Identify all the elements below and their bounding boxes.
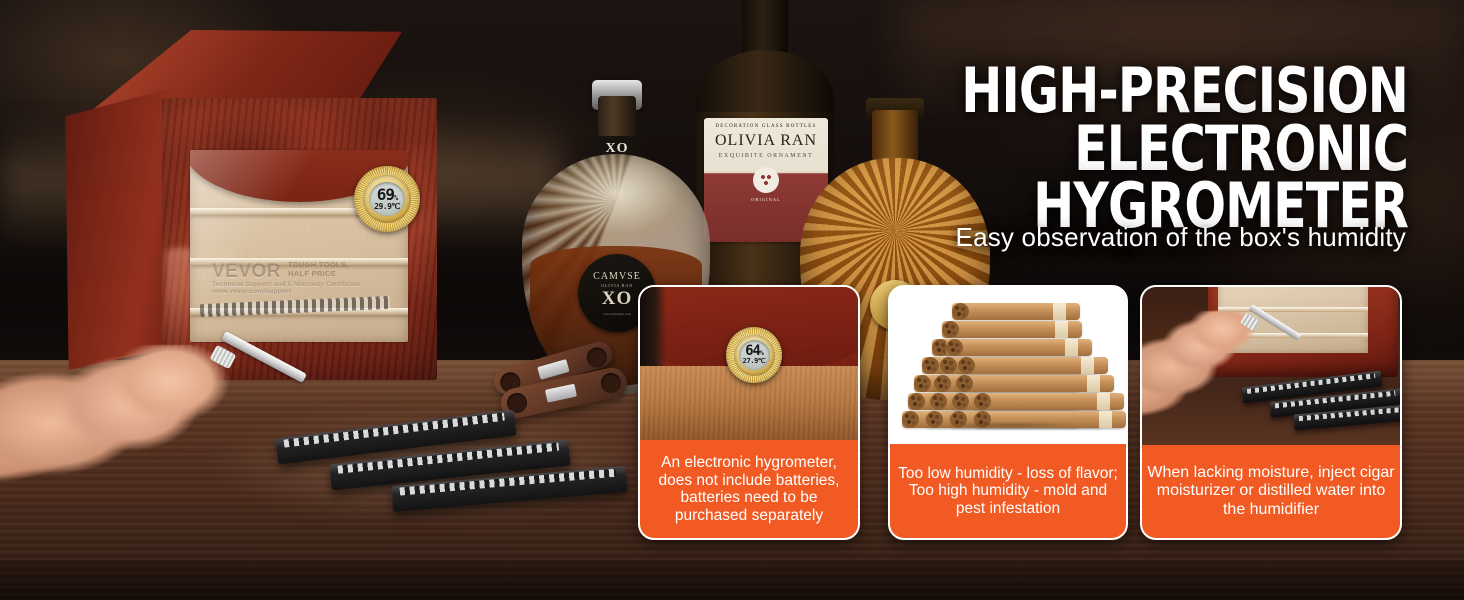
cutter-finger-hole [584,345,609,370]
cognac-brand: CAMVSE [593,271,641,282]
hygrometer-temperature-unit: ℃ [391,202,399,211]
card-hygrometer-device: 64% 27.9℃ [726,327,782,383]
hygrometer-lcd-display: 69% 29.9℃ [369,182,405,216]
hand-holding-dropper [1142,311,1256,437]
card-caption-cigars: Too low humidity - loss of flavor; Too h… [890,444,1126,538]
hand-holding-dropper [0,345,240,495]
cognac-fineprint: www.oliviaran.com [603,312,631,316]
humidor-box: VEVOR Technical Support and E-Warranty C… [62,30,437,375]
cigar-stack-shadow [916,420,1104,430]
hygrometer-temperature-value: 29.9 [374,202,391,211]
hygrometer-humidity-value: 69 [377,185,394,204]
card-hygrometer-lcd: 64% 27.9℃ [739,340,770,370]
vevor-watermark-small: VEVOR [1238,287,1279,289]
cognac-subbrand: OLIVIA RAN [601,283,633,288]
cigar-item [942,321,1082,338]
cigar-pyramid [890,287,1126,444]
banner-headline: HIGH-PRECISION ELECTRONIC HYGROMETER [678,62,1408,235]
cigar-item [958,357,1108,374]
card-hygrometer-temperature-row: 27.9℃ [743,358,766,365]
headline-line-1: HIGH-PRECISION ELECTRONIC [961,54,1408,185]
feature-cards-row: 64% 27.9℃ An electronic hygrometer, does… [638,285,1404,543]
feature-card-hygrometer[interactable]: 64% 27.9℃ An electronic hygrometer, does… [638,285,860,540]
card-hygrometer-humidity-unit: % [760,349,763,357]
feature-card-cigars[interactable]: Too low humidity - loss of flavor; Too h… [888,285,1128,540]
cigar-item [952,303,1080,320]
cutter-blade [545,384,577,403]
cognac-grade-mark: XO [602,289,633,308]
feature-card-humidifier[interactable]: VEVOR When lacking moisture, inject ciga… [1140,285,1402,540]
humidifier-scene: VEVOR [1142,287,1400,445]
humidor-left-side [62,88,172,370]
humidor-hygrometer: 69% 29.9℃ [354,166,420,232]
banner-subheadline: Easy observation of the box's humidity [786,222,1406,253]
table-front-edge [0,560,1464,600]
cigar-item [974,393,1124,410]
hygrometer-gold-bezel: 69% 29.9℃ [363,175,411,223]
card-photo-hygrometer: 64% 27.9℃ [640,287,858,440]
card-hygrometer-humidity-row: 64% [745,345,763,358]
cigar-item [946,339,1092,356]
card-photo-cigars [890,287,1126,444]
product-banner: DECORATION GLASS BOTTLES OLIVIA RAN EXQU… [0,0,1464,600]
card-hygrometer-temperature-value: 27.9 [743,357,758,365]
card-hygrometer-temperature-unit: ℃ [758,357,765,365]
cutter-finger-hole [599,371,623,395]
card-hygrometer-bezel: 64% 27.9℃ [734,335,775,376]
hygrometer-humidity-row: 69% [377,187,397,202]
card-caption-humidifier: When lacking moisture, inject cigar mois… [1142,445,1400,538]
hygrometer-humidity-unit: % [394,194,397,202]
card-caption-hygrometer: An electronic hygrometer, does not inclu… [640,440,858,538]
card-photo-humidifier: VEVOR [1142,287,1400,445]
cigar-item [956,375,1114,392]
hygrometer-temperature-row: 29.9℃ [374,203,400,211]
